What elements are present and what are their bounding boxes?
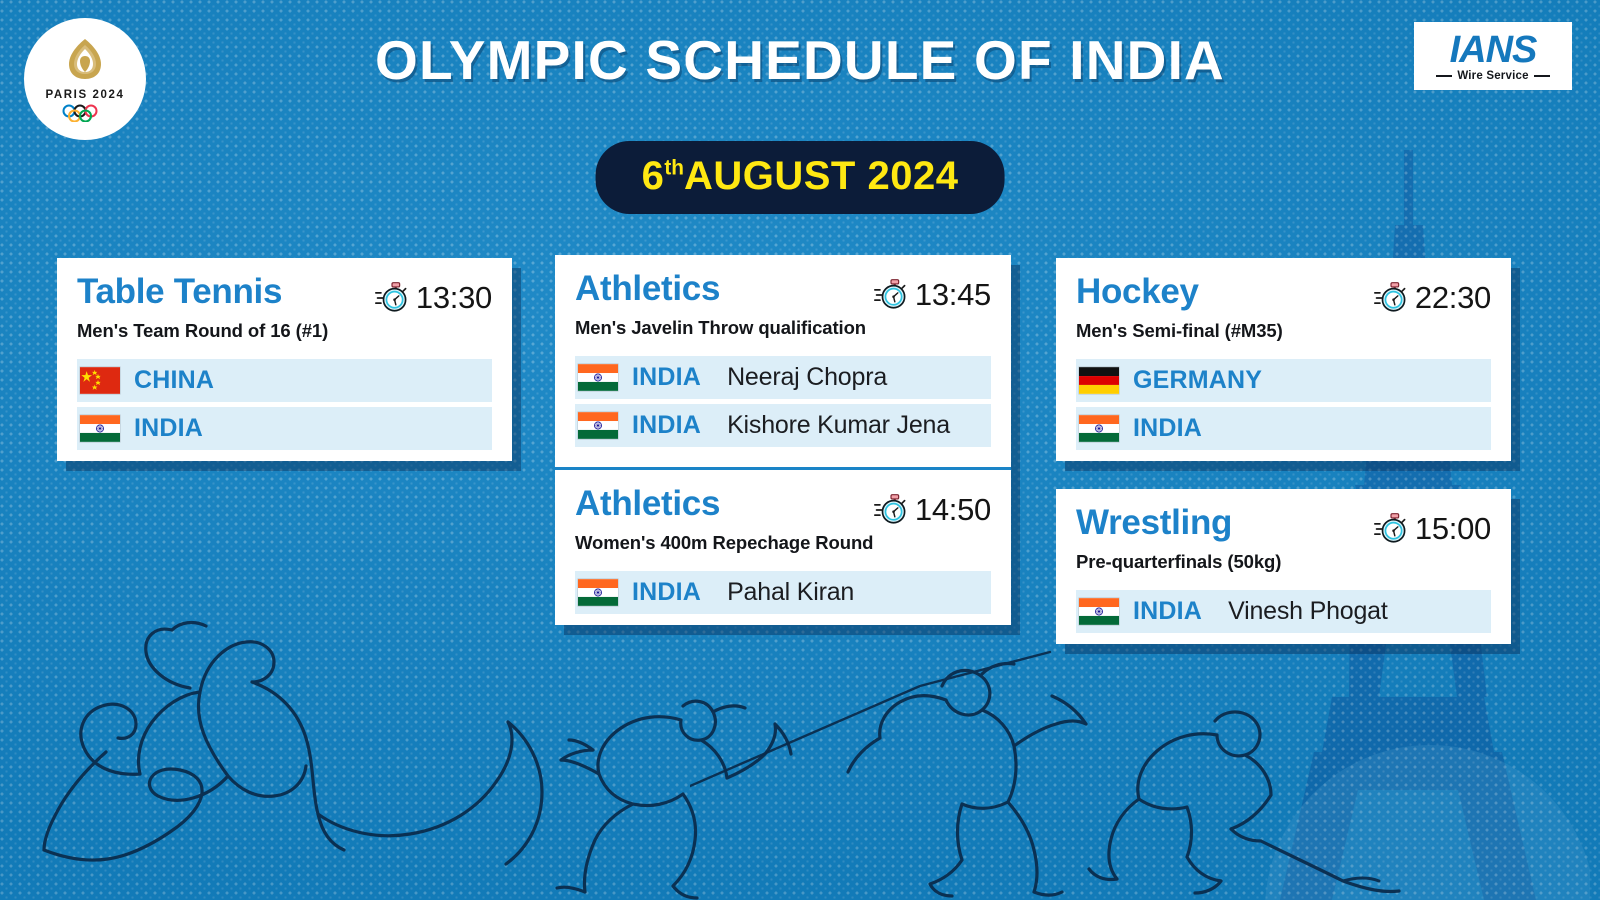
india-flag bbox=[1079, 598, 1119, 625]
country-name: INDIA bbox=[632, 578, 701, 607]
participant-row[interactable]: INDIA Neeraj Chopra bbox=[575, 356, 991, 399]
participant-row[interactable]: INDIA Vinesh Phogat bbox=[1076, 590, 1491, 633]
stopwatch-icon bbox=[1374, 281, 1408, 315]
event-time: 15:00 bbox=[1415, 511, 1491, 547]
stopwatch-icon bbox=[1374, 512, 1408, 546]
participant-list: INDIA Vinesh Phogat bbox=[1076, 590, 1491, 644]
china-flag bbox=[80, 367, 120, 394]
schedule-grid: Table Tennis 13:30 Men's Team Round of 1… bbox=[0, 0, 1600, 900]
schedule-card[interactable]: Hockey 22:30 Men's Semi-final (#M35) bbox=[1056, 258, 1511, 461]
india-flag bbox=[80, 415, 120, 442]
event-description: Men's Semi-final (#M35) bbox=[1076, 320, 1491, 342]
schedule-card[interactable]: Table Tennis 13:30 Men's Team Round of 1… bbox=[57, 258, 512, 461]
schedule-section: Hockey 22:30 Men's Semi-final (#M35) bbox=[1056, 258, 1511, 461]
india-flag bbox=[578, 364, 618, 391]
country-name: GERMANY bbox=[1133, 366, 1262, 395]
country-name: INDIA bbox=[134, 414, 203, 443]
schedule-section: Athletics 13:45 Men's Javelin Throw qual… bbox=[555, 255, 1011, 458]
athlete-name: Vinesh Phogat bbox=[1228, 597, 1388, 626]
athlete-name: Neeraj Chopra bbox=[727, 363, 887, 392]
schedule-card[interactable]: Athletics 13:45 Men's Javelin Throw qual… bbox=[555, 255, 1011, 625]
event-time: 13:45 bbox=[915, 277, 991, 313]
event-time: 14:50 bbox=[915, 492, 991, 528]
india-flag bbox=[578, 412, 618, 439]
stopwatch-icon bbox=[874, 493, 908, 527]
event-time-group: 13:30 bbox=[375, 274, 492, 316]
germany-flag bbox=[1079, 367, 1119, 394]
india-flag bbox=[578, 579, 618, 606]
sport-name: Wrestling bbox=[1076, 505, 1232, 541]
country-name: INDIA bbox=[632, 411, 701, 440]
schedule-section: Wrestling 15:00 Pre-quarterfinals (50kg) bbox=[1056, 489, 1511, 644]
country-name: INDIA bbox=[1133, 597, 1202, 626]
event-time-group: 13:45 bbox=[874, 271, 991, 313]
india-flag bbox=[1079, 415, 1119, 442]
participant-list: INDIA Pahal Kiran bbox=[575, 571, 991, 625]
participant-row[interactable]: INDIA bbox=[1076, 407, 1491, 450]
sport-name: Athletics bbox=[575, 486, 720, 522]
participant-list: INDIA Neeraj Chopra INDIA Kishore Kumar … bbox=[575, 356, 991, 458]
event-time-group: 22:30 bbox=[1374, 274, 1491, 316]
participant-row[interactable]: CHINA bbox=[77, 359, 492, 402]
participant-row[interactable]: INDIA bbox=[77, 407, 492, 450]
schedule-card[interactable]: Wrestling 15:00 Pre-quarterfinals (50kg) bbox=[1056, 489, 1511, 644]
event-description: Men's Team Round of 16 (#1) bbox=[77, 320, 492, 342]
athlete-name: Kishore Kumar Jena bbox=[727, 411, 950, 440]
stopwatch-icon bbox=[874, 278, 908, 312]
schedule-section: Table Tennis 13:30 Men's Team Round of 1… bbox=[57, 258, 512, 461]
participant-row[interactable]: GERMANY bbox=[1076, 359, 1491, 402]
participant-list: GERMANY INDIA bbox=[1076, 359, 1491, 461]
section-header: Athletics 13:45 bbox=[575, 271, 991, 313]
event-time-group: 15:00 bbox=[1374, 505, 1491, 547]
event-description: Pre-quarterfinals (50kg) bbox=[1076, 551, 1491, 573]
athlete-name: Pahal Kiran bbox=[727, 578, 854, 607]
country-name: INDIA bbox=[632, 363, 701, 392]
schedule-section: Athletics 14:50 Women's 400m Repechage R… bbox=[555, 467, 1011, 625]
section-header: Table Tennis 13:30 bbox=[77, 274, 492, 316]
event-time: 22:30 bbox=[1415, 280, 1491, 316]
country-name: CHINA bbox=[134, 366, 214, 395]
event-description: Men's Javelin Throw qualification bbox=[575, 317, 991, 339]
event-time-group: 14:50 bbox=[874, 486, 991, 528]
sport-name: Athletics bbox=[575, 271, 720, 307]
sport-name: Table Tennis bbox=[77, 274, 282, 310]
stopwatch-icon bbox=[375, 281, 409, 315]
participant-row[interactable]: INDIA Pahal Kiran bbox=[575, 571, 991, 614]
event-description: Women's 400m Repechage Round bbox=[575, 532, 991, 554]
section-header: Wrestling 15:00 bbox=[1076, 505, 1491, 547]
section-header: Athletics 14:50 bbox=[575, 486, 991, 528]
participant-list: CHINA INDIA bbox=[77, 359, 492, 461]
section-header: Hockey 22:30 bbox=[1076, 274, 1491, 316]
sport-name: Hockey bbox=[1076, 274, 1199, 310]
country-name: INDIA bbox=[1133, 414, 1202, 443]
participant-row[interactable]: INDIA Kishore Kumar Jena bbox=[575, 404, 991, 447]
event-time: 13:30 bbox=[416, 280, 492, 316]
